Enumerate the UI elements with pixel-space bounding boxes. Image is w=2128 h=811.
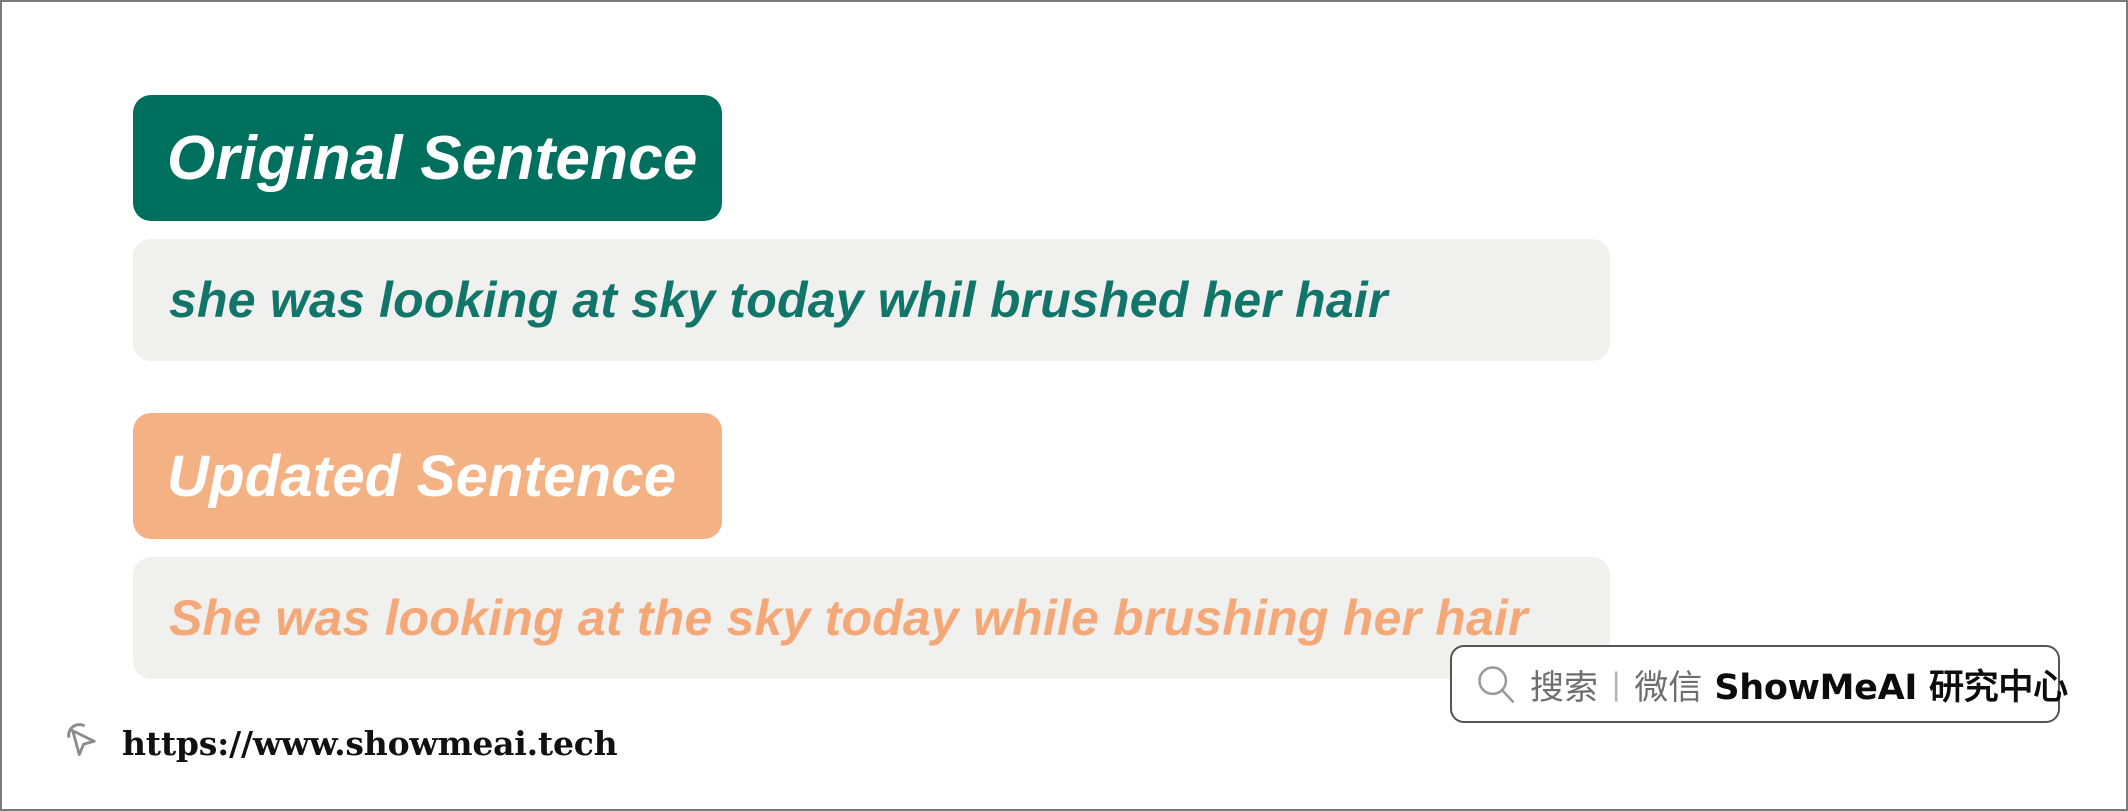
section-badge-updated-label: Updated Sentence [167,443,676,510]
cursor-pointer-icon [62,720,108,766]
updated-sentence-panel: She was looking at the sky today while b… [133,557,1610,679]
watermark-divider: | [1610,666,1622,703]
original-sentence-panel: she was looking at sky today whil brushe… [133,239,1610,361]
watermark-search-label: 搜索 [1530,660,1598,709]
section-badge-original-label: Original Sentence [167,123,698,194]
original-sentence-text: she was looking at sky today whil brushe… [169,271,1388,329]
watermark-brand-label: ShowMeAI 研究中心 [1714,659,2067,710]
footer-url-text: https://www.showmeai.tech [122,724,617,763]
section-badge-original: Original Sentence [133,95,722,221]
footer-url-block: https://www.showmeai.tech [62,720,617,766]
watermark-search-pill: 搜索 | 微信 ShowMeAI 研究中心 [1450,645,2060,723]
watermark-channel-label: 微信 [1634,660,1702,709]
section-badge-updated: Updated Sentence [133,413,722,539]
search-icon [1474,662,1518,706]
slide-canvas: Original Sentence she was looking at sky… [0,0,2128,811]
updated-sentence-text: She was looking at the sky today while b… [169,589,1528,647]
